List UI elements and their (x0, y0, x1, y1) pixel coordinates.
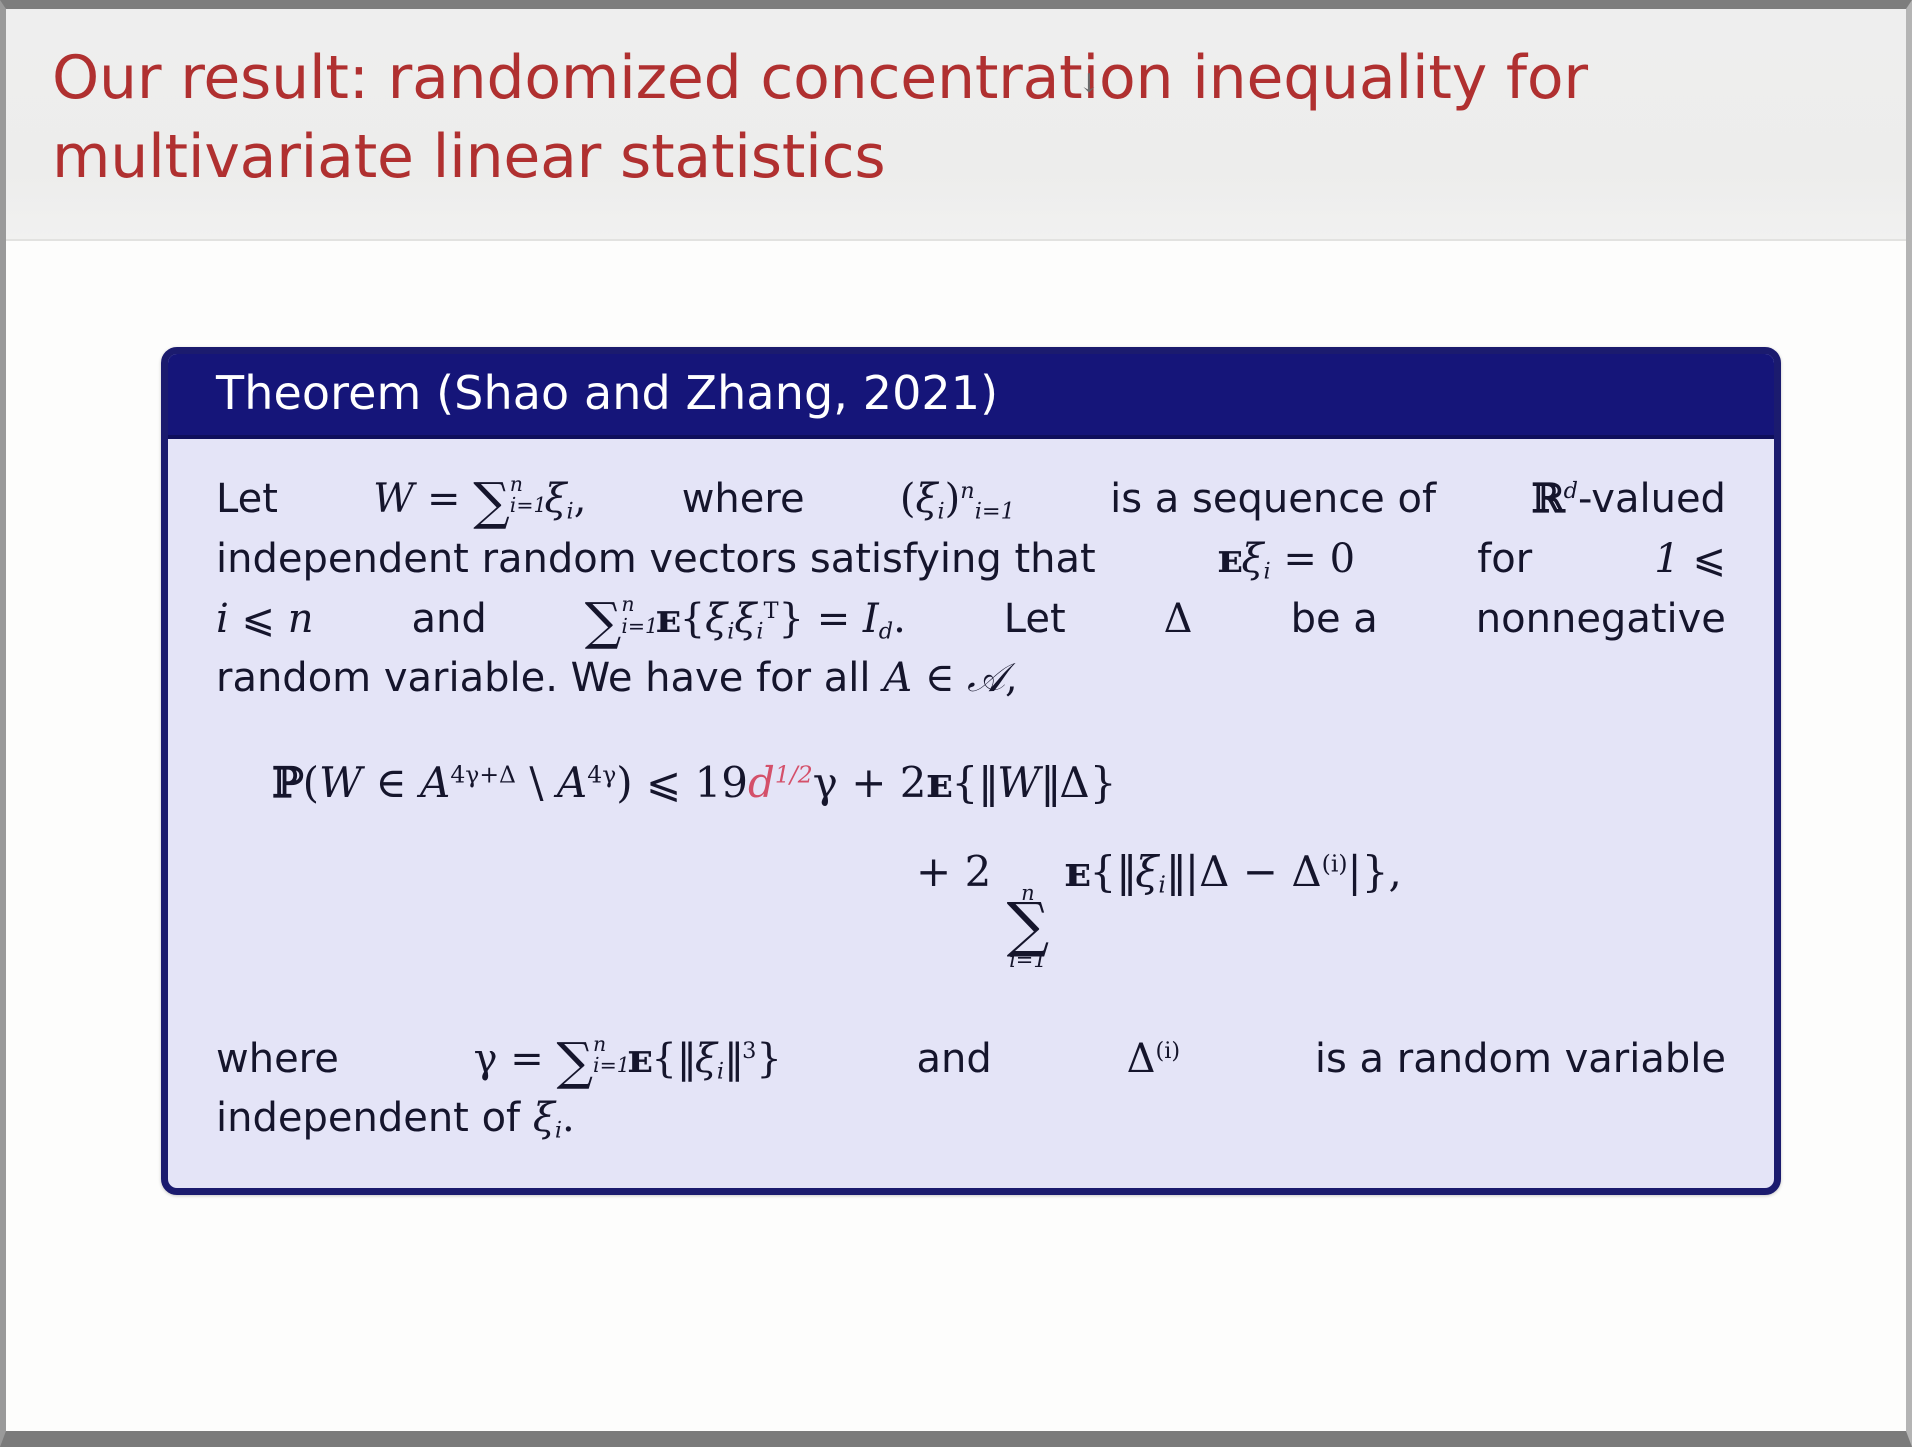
math-symbol-gamma: γ (813, 758, 838, 807)
math-subscript-i: i (1158, 870, 1166, 898)
math-subscript-i: i (555, 1117, 562, 1143)
text-fragment: where (216, 1030, 339, 1089)
math-abs-open: | (1185, 847, 1199, 896)
text-fragment: be a (1291, 590, 1378, 649)
math-symbol-probability: ℙ (272, 758, 303, 807)
math-norm-close: ‖ (724, 1036, 742, 1082)
math-superscript-i-paren: (i) (1155, 1038, 1180, 1064)
math-symbol-A: A (557, 758, 587, 807)
math-subscript-i: i (1264, 558, 1271, 584)
math-paren-close: ) (945, 476, 961, 522)
math-brace-close: } (779, 596, 804, 642)
math-symbol-xi: ξ (1241, 536, 1263, 582)
math-brace-open: { (951, 758, 978, 807)
text-fragment: and (917, 1030, 992, 1089)
text-fragment: where (682, 470, 805, 529)
math-superscript-n: n (960, 478, 974, 504)
math-symbol-element-of: ∈ (376, 758, 407, 807)
math-punct-comma: , (1005, 655, 1018, 701)
sum-lower-limit: i=1 (510, 496, 547, 514)
theorem-text-line: random variable. We have for all A ∈ 𝒜, (216, 649, 1726, 708)
math-symbol-W: W (373, 476, 414, 522)
math-superscript-one-half-highlighted: 1/2 (775, 761, 813, 789)
text-fragment: is a random variable (1315, 1030, 1726, 1089)
math-subscript-i: i (567, 498, 574, 524)
math-symbol-expectation: ᴇ (656, 595, 680, 642)
theorem-block-title: Theorem (Shao and Zhang, 2021) (168, 354, 1774, 439)
math-symbol-xi: ξ (545, 476, 567, 522)
text-fragment: independent random vectors satisfying th… (216, 530, 1096, 589)
math-brace-close: } (1362, 847, 1389, 896)
slide-canvas: Our result: randomized concentration ine… (6, 9, 1906, 1431)
math-number-2: 2 (965, 847, 992, 896)
displayed-equation: ℙ(W ∈ A4γ+Δ \ A4γ) ⩽ 19d1/2γ + 2ᴇ{‖W‖Δ} … (216, 752, 1726, 970)
sum-lower-limit: i=1 (1009, 950, 1047, 971)
summation-operator: ∑ n i=1 (585, 599, 622, 645)
presentation-slide: Our result: randomized concentration ine… (0, 0, 1912, 1447)
math-symbol-delta: Δ (1059, 758, 1089, 807)
theorem-text-line: i ⩽ n and ∑ n i=1 ᴇ{ξiξiT} = Id. Let Δ (216, 589, 1726, 649)
theorem-block: Theorem (Shao and Zhang, 2021) Let W = ∑… (161, 347, 1781, 1195)
math-fragment-covariance-identity: ∑ n i=1 ᴇ{ξiξiT} = Id. (585, 589, 906, 649)
math-symbol-A-calligraphic: 𝒜 (967, 655, 1005, 701)
math-symbol-xi: ξ (1135, 847, 1158, 896)
math-superscript-3: 3 (742, 1038, 756, 1064)
theorem-where-clause: where γ = ∑ n i=1 ᴇ{‖ξi‖3} and Δ(i) (216, 1029, 1726, 1148)
page-title-line-1: Our result: randomized concentration ine… (52, 39, 1692, 118)
math-symbol-expectation: ᴇ (927, 758, 952, 807)
sum-upper-limit: n (593, 1035, 606, 1053)
sigma-icon: ∑ (473, 472, 510, 532)
math-symbol-xi: ξ (533, 1095, 555, 1141)
theorem-text-line: where γ = ∑ n i=1 ᴇ{‖ξi‖3} and Δ(i) (216, 1029, 1726, 1089)
math-punct-period: . (893, 596, 906, 642)
math-brace-close: } (756, 1036, 781, 1082)
cursor-artifact-icon: ↓ (1078, 71, 1082, 115)
math-punct-comma: , (574, 476, 587, 522)
text-fragment: Let (216, 470, 278, 529)
math-symbol-W: W (319, 758, 362, 807)
math-norm-open: ‖ (978, 758, 997, 807)
math-subscript-d: d (879, 618, 893, 644)
math-symbol-delta: Δ (1127, 1036, 1156, 1082)
math-symbol-expectation: ᴇ (1218, 535, 1242, 582)
slide-title-band: Our result: randomized concentration ine… (6, 9, 1906, 241)
math-punct-period: . (562, 1095, 575, 1141)
math-superscript-4gamma: 4γ (587, 761, 616, 789)
math-symbol-leq: ⩽ (242, 596, 276, 642)
math-symbol-A: A (883, 655, 912, 701)
theorem-text-line: independent of ξi. (216, 1089, 1726, 1148)
math-norm-close: ‖ (1040, 758, 1059, 807)
math-norm-close: ‖ (1166, 847, 1185, 896)
math-fragment-expectation-zero: ᴇξi = 0 (1218, 529, 1355, 589)
math-symbol-plus: + (916, 847, 951, 896)
math-symbol-one: 1 (1654, 536, 1679, 582)
math-fragment-i-leq-n: i ⩽ n (216, 590, 314, 649)
sum-lower-limit: i=1 (621, 617, 658, 635)
math-symbol-equals: = (817, 596, 851, 642)
sigma-icon: ∑ (1007, 902, 1050, 951)
math-symbol-xi: ξ (915, 476, 937, 522)
theorem-text-line: Let W = ∑ n i=1 ξi, where (ξi)ni=1 is a … (216, 469, 1726, 529)
text-fragment: is a sequence of (1110, 470, 1436, 529)
math-fragment-Rd: ℝd-valued (1531, 469, 1726, 529)
sum-upper-limit: n (621, 595, 634, 613)
math-symbol-gamma: γ (474, 1036, 498, 1082)
math-symbol-xi: ξ (695, 1036, 717, 1082)
math-symbol-real-numbers: ℝ (1531, 475, 1563, 522)
math-subscript-i: i (756, 618, 763, 644)
math-symbol-xi: ξ (734, 596, 756, 642)
math-superscript-i-paren: (i) (1322, 849, 1348, 877)
math-subscript-i: i (717, 1058, 724, 1084)
text-fragment: Let (1004, 590, 1066, 649)
math-symbol-xi: ξ (705, 596, 727, 642)
math-brace-open: { (651, 1036, 676, 1082)
page-title-line-2: multivariate linear statistics (52, 118, 1692, 197)
math-symbol-leq: ⩽ (646, 758, 681, 807)
summation-operator-display: n ∑ i=1 (1007, 883, 1050, 971)
math-symbol-setminus: \ (529, 758, 543, 807)
math-fragment-sequence: (ξi)ni=1 (900, 470, 1015, 529)
page-title: Our result: randomized concentration ine… (52, 39, 1692, 197)
text-fragment: independent of (216, 1089, 520, 1148)
math-symbol-equals: = (427, 476, 461, 522)
theorem-block-body: Let W = ∑ n i=1 ξi, where (ξi)ni=1 is a … (168, 439, 1774, 1188)
text-fragment: nonnegative (1476, 590, 1726, 649)
math-fragment-one-leq: 1 ⩽ (1654, 530, 1726, 589)
equation-line-2: + 2 n ∑ i=1 ᴇ{‖ξi‖|Δ − Δ(i)|}, (216, 841, 1726, 971)
math-symbol-delta: Δ (1164, 590, 1193, 649)
math-symbol-element-of: ∈ (925, 655, 955, 701)
math-brace-open: { (680, 596, 705, 642)
math-paren-open: ( (900, 476, 916, 522)
math-punct-comma: , (1388, 847, 1401, 896)
math-norm-open: ‖ (677, 1036, 695, 1082)
text-fragment: and (412, 590, 487, 649)
sigma-icon: ∑ (585, 592, 622, 652)
equation-line-1: ℙ(W ∈ A4γ+Δ \ A4γ) ⩽ 19d1/2γ + 2ᴇ{‖W‖Δ} (216, 752, 1726, 814)
math-subscript-i-equals-1: i=1 (975, 498, 1015, 524)
math-symbol-plus: + (851, 758, 886, 807)
text-fragment: random variable. We have for all (216, 649, 871, 708)
math-symbol-d-highlighted: d (748, 758, 775, 807)
math-equals-zero: = 0 (1283, 536, 1355, 582)
math-symbol-leq: ⩽ (1692, 536, 1726, 582)
math-number-2: 2 (900, 758, 927, 807)
math-symbol-i: i (216, 596, 229, 642)
math-symbol-delta: Δ (1199, 847, 1229, 896)
math-paren-open: ( (303, 758, 319, 807)
sigma-icon: ∑ (556, 1032, 593, 1092)
text-fragment: -valued (1578, 476, 1726, 522)
math-symbol-identity: I (863, 596, 879, 642)
math-paren-close: ) (616, 758, 632, 807)
math-symbol-minus: − (1243, 847, 1278, 896)
math-number-19: 19 (695, 758, 748, 807)
math-subscript-i: i (937, 498, 944, 524)
math-fragment-delta-superscript-i: Δ(i) (1127, 1030, 1181, 1089)
sum-lower-limit: i=1 (593, 1056, 630, 1074)
math-symbol-equals: = (510, 1036, 544, 1082)
math-symbol-expectation: ᴇ (628, 1035, 652, 1082)
math-superscript-4gamma-plus-delta: 4γ+Δ (450, 761, 516, 789)
math-fragment-xi-i: ξi. (520, 1089, 575, 1148)
math-symbol-delta: Δ (1291, 847, 1321, 896)
text-fragment: for (1477, 530, 1532, 589)
math-fragment-sum-W: W = ∑ n i=1 ξi, (373, 470, 586, 529)
math-symbol-A: A (420, 758, 450, 807)
sum-upper-limit: n (510, 475, 523, 493)
theorem-text-line: independent random vectors satisfying th… (216, 529, 1726, 589)
math-fragment-gamma-definition: γ = ∑ n i=1 ᴇ{‖ξi‖3} (474, 1029, 782, 1089)
math-abs-close: | (1348, 847, 1362, 896)
math-superscript-transpose: T (764, 598, 779, 624)
math-brace-close: } (1090, 758, 1117, 807)
math-superscript-d: d (1564, 478, 1578, 504)
math-symbol-W: W (997, 758, 1040, 807)
math-norm-open: ‖ (1116, 847, 1135, 896)
math-symbol-n: n (288, 596, 314, 642)
summation-operator: ∑ n i=1 (556, 1039, 593, 1085)
summation-operator: ∑ n i=1 (473, 479, 510, 525)
math-symbol-expectation: ᴇ (1065, 847, 1090, 896)
math-fragment-A-in-Acal: A ∈ 𝒜, (871, 649, 1018, 708)
math-brace-open: { (1090, 847, 1117, 896)
